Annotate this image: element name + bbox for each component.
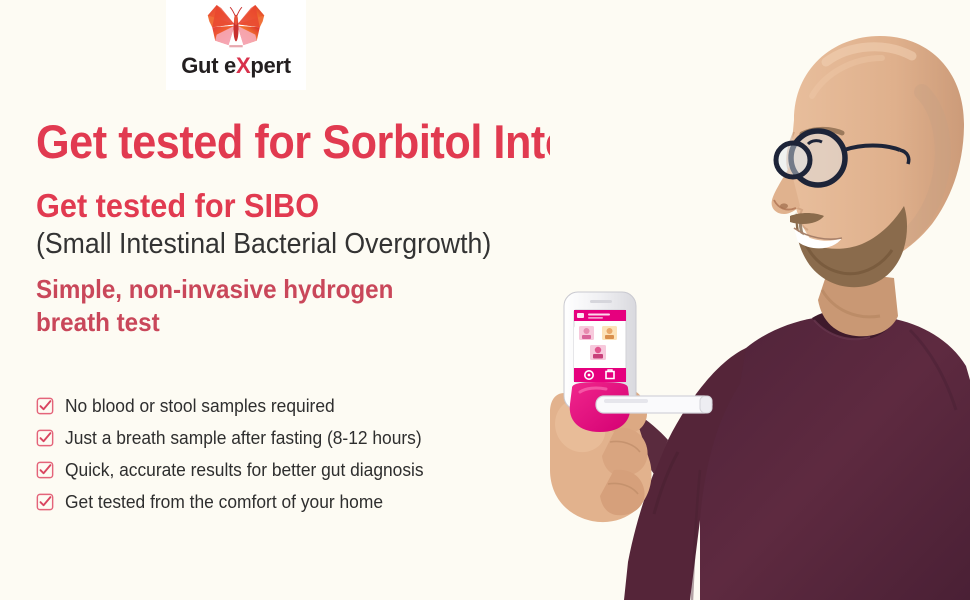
wordmark-accent: X	[236, 53, 250, 78]
brand-logo: Gut eXpert	[166, 0, 306, 90]
wordmark-prefix: Gut e	[181, 53, 236, 78]
wordmark-suffix: pert	[250, 53, 290, 78]
list-item: Get tested from the comfort of your home	[36, 486, 447, 518]
brand-wordmark: Gut eXpert	[181, 55, 290, 77]
benefit-text: Get tested from the comfort of your home	[65, 493, 383, 512]
secondary-headline-expansion: (Small Intestinal Bacterial Overgrowth)	[36, 229, 606, 261]
man-with-device-illustration	[550, 0, 970, 600]
benefits-list: No blood or stool samples required Just …	[36, 390, 447, 518]
benefit-text: Quick, accurate results for better gut d…	[65, 461, 424, 480]
checkbox-checked-icon	[36, 461, 54, 479]
list-item: Just a breath sample after fasting (8-12…	[36, 422, 447, 454]
checkbox-checked-icon	[36, 493, 54, 511]
secondary-headline: Get tested for SIBO	[36, 189, 613, 224]
hero-photo	[550, 0, 970, 600]
mouthpiece-icon	[596, 396, 712, 413]
benefit-text: No blood or stool samples required	[65, 397, 335, 416]
list-item: Quick, accurate results for better gut d…	[36, 454, 447, 486]
tagline: Simple, non-invasive hydrogen breath tes…	[36, 273, 436, 340]
list-item: No blood or stool samples required	[36, 390, 447, 422]
checkbox-checked-icon	[36, 429, 54, 447]
butterfly-icon	[198, 2, 274, 54]
checkbox-checked-icon	[36, 397, 54, 415]
promotional-banner: Gut eXpert Get tested for Sorbitol Intol…	[0, 0, 970, 600]
benefit-text: Just a breath sample after fasting (8-12…	[65, 429, 422, 448]
page-title: Get tested for Sorbitol Intolerance	[36, 118, 606, 165]
